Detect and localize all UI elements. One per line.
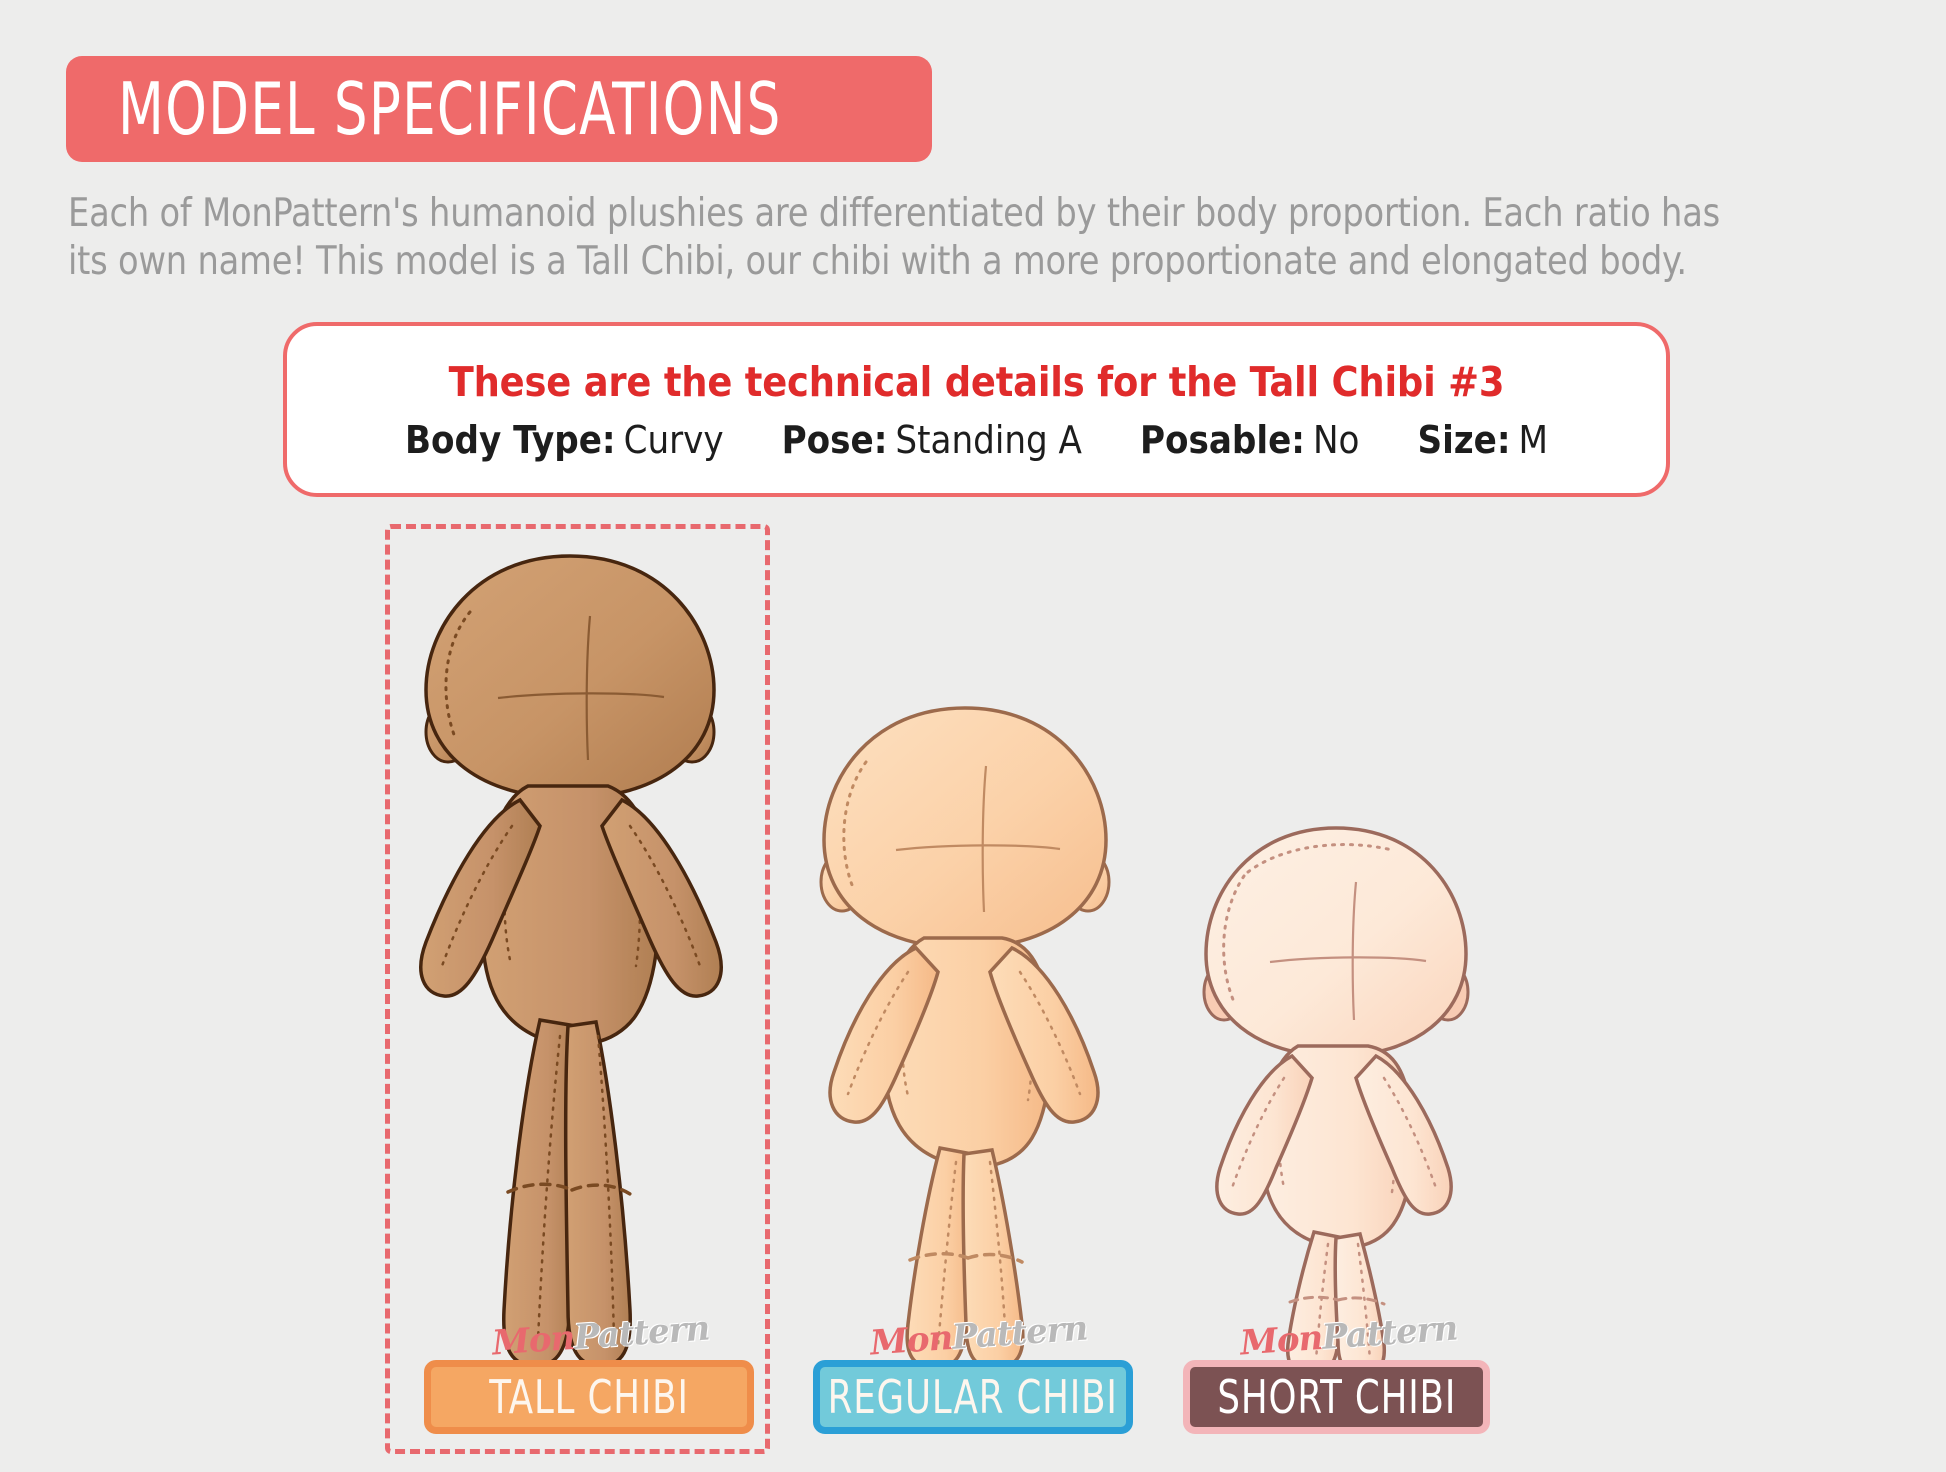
spec-posable-label: Posable: xyxy=(1140,418,1305,462)
spec-pose: Pose:Standing A xyxy=(782,418,1082,462)
spec-posable: Posable:No xyxy=(1140,418,1360,462)
technical-details-row: Body Type:Curvy Pose:Standing A Posable:… xyxy=(405,418,1548,462)
badge-short-chibi[interactable]: SHORT CHIBI xyxy=(1183,1360,1490,1434)
badge-regular-chibi-label: REGULAR CHIBI xyxy=(828,1374,1118,1420)
page-title-banner: MODEL SPECIFICATIONS xyxy=(66,56,932,162)
doll-regular-chibi-illustration xyxy=(800,700,1130,1380)
spec-size: Size:M xyxy=(1417,418,1548,462)
technical-details-heading: These are the technical details for the … xyxy=(449,358,1505,406)
spec-body-type-value: Curvy xyxy=(624,418,724,462)
spec-body-type-label: Body Type: xyxy=(405,418,616,462)
doll-comparison-stage: MonPattern xyxy=(0,510,1946,1472)
page-title: MODEL SPECIFICATIONS xyxy=(118,73,782,145)
doll-short-chibi[interactable] xyxy=(1186,820,1486,1380)
technical-details-card: These are the technical details for the … xyxy=(283,322,1670,497)
watermark-mon-text: Mon xyxy=(869,1318,954,1364)
doll-tall-chibi[interactable] xyxy=(400,550,760,1380)
doll-tall-chibi-illustration xyxy=(400,550,760,1380)
spec-size-value: M xyxy=(1519,418,1549,462)
intro-paragraph: Each of MonPattern's humanoid plushies a… xyxy=(68,190,1898,285)
badge-short-chibi-label: SHORT CHIBI xyxy=(1217,1374,1456,1420)
intro-line-1: Each of MonPattern's humanoid plushies a… xyxy=(68,190,1825,238)
spec-pose-label: Pose: xyxy=(782,418,888,462)
spec-pose-value: Standing A xyxy=(895,418,1082,462)
watermark-mon-text: Mon xyxy=(491,1318,576,1364)
badge-tall-chibi-label: TALL CHIBI xyxy=(489,1374,689,1420)
spec-size-label: Size: xyxy=(1417,418,1510,462)
spec-posable-value: No xyxy=(1313,418,1359,462)
intro-line-2: its own name! This model is a Tall Chibi… xyxy=(68,238,1825,286)
doll-regular-chibi[interactable] xyxy=(800,700,1130,1380)
badge-tall-chibi[interactable]: TALL CHIBI xyxy=(424,1360,754,1434)
doll-short-chibi-illustration xyxy=(1186,820,1486,1380)
watermark-mon-text: Mon xyxy=(1239,1318,1324,1364)
spec-body-type: Body Type:Curvy xyxy=(405,418,724,462)
badge-regular-chibi[interactable]: REGULAR CHIBI xyxy=(813,1360,1133,1434)
